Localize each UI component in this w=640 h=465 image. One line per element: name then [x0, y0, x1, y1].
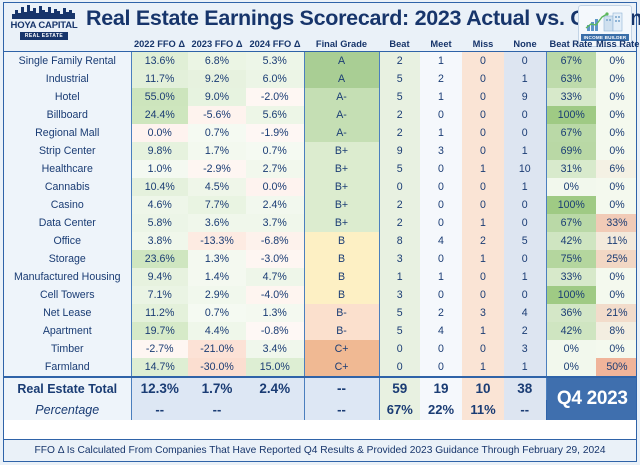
- cell-miss-rate: 0%: [596, 178, 637, 196]
- cell-none: 1: [504, 70, 546, 88]
- cell-ffo2024: 2.4%: [246, 196, 304, 214]
- cell-none: 0: [504, 124, 546, 142]
- cell-total-ffo2022: 12.3%: [131, 377, 188, 400]
- cell-meet: 1: [420, 124, 462, 142]
- cell-meet: 1: [420, 52, 462, 70]
- cell-none: 0: [504, 52, 546, 70]
- cell-grade: B+: [304, 160, 379, 178]
- table-row[interactable]: Storage23.6%1.3%-3.0%B301075%25%: [4, 250, 637, 268]
- table-row[interactable]: Single Family Rental13.6%6.8%5.3%A210067…: [4, 52, 637, 70]
- table-row[interactable]: Farmland14.7%-30.0%15.0%C+00110%50%: [4, 358, 637, 377]
- cell-ffo2022: 7.1%: [131, 286, 188, 304]
- cell-meet: 0: [420, 214, 462, 232]
- cell-sector: Cell Towers: [4, 286, 131, 304]
- column-header-missrate: Miss Rate: [596, 39, 638, 49]
- cell-sector: Manufactured Housing: [4, 268, 131, 286]
- cell-miss: 1: [462, 250, 504, 268]
- cell-total-ffo2023: 1.7%: [188, 377, 246, 400]
- cell-pct-ffo2024: [246, 400, 304, 420]
- cell-beat-rate: 75%: [546, 250, 596, 268]
- cell-ffo2023: 7.7%: [188, 196, 246, 214]
- cell-ffo2022: 23.6%: [131, 250, 188, 268]
- cell-beat-rate: 0%: [546, 178, 596, 196]
- cell-beat: 2: [379, 214, 420, 232]
- cell-meet: 0: [420, 178, 462, 196]
- scorecard-root: HOYA CAPITAL REAL ESTATE Real Estate Ear…: [0, 0, 640, 465]
- cell-beat: 3: [379, 286, 420, 304]
- cell-none: 3: [504, 340, 546, 358]
- cell-miss: 1: [462, 160, 504, 178]
- cell-beat-rate: 63%: [546, 70, 596, 88]
- cell-beat: 2: [379, 196, 420, 214]
- cell-none: 10: [504, 160, 546, 178]
- cell-none: 1: [504, 358, 546, 377]
- cell-ffo2023: 1.4%: [188, 268, 246, 286]
- cell-beat-rate: 100%: [546, 196, 596, 214]
- cell-ffo2024: 4.7%: [246, 268, 304, 286]
- table-row[interactable]: Data Center5.8%3.6%3.7%B+201067%33%: [4, 214, 637, 232]
- cell-sector: Apartment: [4, 322, 131, 340]
- cell-none: 0: [504, 214, 546, 232]
- column-headers: 2022 FFO Δ2023 FFO Δ2024 FFO ΔFinal Grad…: [4, 34, 636, 49]
- cell-miss-rate: 33%: [596, 214, 637, 232]
- cell-grade: B-: [304, 322, 379, 340]
- cell-ffo2022: 1.0%: [131, 160, 188, 178]
- cell-sector: Office: [4, 232, 131, 250]
- cell-ffo2023: -5.6%: [188, 106, 246, 124]
- cell-beat-rate: 67%: [546, 124, 596, 142]
- column-header-miss: Miss: [462, 39, 504, 49]
- cell-miss-rate: 11%: [596, 232, 637, 250]
- cell-miss-rate: 0%: [596, 340, 637, 358]
- cell-grade: A: [304, 52, 379, 70]
- cell-ffo2022: 11.7%: [131, 70, 188, 88]
- cell-meet: 1: [420, 88, 462, 106]
- table-row[interactable]: Hotel55.0%9.0%-2.0%A-510933%0%: [4, 88, 637, 106]
- cell-ffo2023: 0.7%: [188, 124, 246, 142]
- cell-beat-rate: 67%: [546, 214, 596, 232]
- table-row[interactable]: Manufactured Housing9.4%1.4%4.7%B110133%…: [4, 268, 637, 286]
- cell-miss-rate: 0%: [596, 286, 637, 304]
- cell-ffo2024: -0.8%: [246, 322, 304, 340]
- cell-grade: B+: [304, 214, 379, 232]
- cell-ffo2024: -3.0%: [246, 250, 304, 268]
- cell-pct-beat: 67%: [379, 400, 420, 420]
- cell-miss-rate: 0%: [596, 52, 637, 70]
- cell-grade: A-: [304, 88, 379, 106]
- scorecard-table-body: Single Family Rental13.6%6.8%5.3%A210067…: [4, 52, 637, 420]
- cell-ffo2024: 0.0%: [246, 178, 304, 196]
- cell-meet: 0: [420, 358, 462, 377]
- table-row[interactable]: Cannabis10.4%4.5%0.0%B+00010%0%: [4, 178, 637, 196]
- cell-ffo2024: -6.8%: [246, 232, 304, 250]
- cell-total-meet: 19: [420, 377, 462, 400]
- cell-ffo2022: 11.2%: [131, 304, 188, 322]
- column-header-beat: Beat: [379, 39, 420, 49]
- cell-grade: B: [304, 250, 379, 268]
- column-header-meet: Meet: [420, 39, 462, 49]
- cell-meet: 2: [420, 304, 462, 322]
- cell-ffo2024: 1.3%: [246, 304, 304, 322]
- cell-pct-ffo2023: --: [188, 400, 246, 420]
- cell-ffo2023: 1.7%: [188, 142, 246, 160]
- cell-ffo2023: -2.9%: [188, 160, 246, 178]
- cell-ffo2024: -4.0%: [246, 286, 304, 304]
- table-row[interactable]: Timber-2.7%-21.0%3.4%C+00030%0%: [4, 340, 637, 358]
- cell-miss: 1: [462, 214, 504, 232]
- cell-sector: Net Lease: [4, 304, 131, 322]
- cell-ffo2023: 2.9%: [188, 286, 246, 304]
- cell-ffo2024: 0.7%: [246, 142, 304, 160]
- cell-grade: C+: [304, 358, 379, 377]
- cell-total-miss: 10: [462, 377, 504, 400]
- cell-none: 4: [504, 304, 546, 322]
- scorecard-table: Single Family Rental13.6%6.8%5.3%A210067…: [4, 52, 637, 420]
- cell-ffo2022: 19.7%: [131, 322, 188, 340]
- cell-miss-rate: 0%: [596, 88, 637, 106]
- cell-meet: 0: [420, 250, 462, 268]
- cell-grade: B-: [304, 304, 379, 322]
- cell-meet: 0: [420, 340, 462, 358]
- cell-beat-rate: 69%: [546, 142, 596, 160]
- cell-beat-rate: 33%: [546, 268, 596, 286]
- cell-none: 1: [504, 142, 546, 160]
- cell-ffo2023: 6.8%: [188, 52, 246, 70]
- cell-grade: B: [304, 268, 379, 286]
- cell-ffo2024: 3.7%: [246, 214, 304, 232]
- cell-miss: 2: [462, 232, 504, 250]
- cell-ffo2022: 14.7%: [131, 358, 188, 377]
- cell-miss-rate: 21%: [596, 304, 637, 322]
- cell-ffo2023: 1.3%: [188, 250, 246, 268]
- cell-miss: 0: [462, 88, 504, 106]
- cell-meet: 0: [420, 106, 462, 124]
- cell-none: 1: [504, 268, 546, 286]
- header: HOYA CAPITAL REAL ESTATE Real Estate Ear…: [3, 2, 637, 52]
- cell-beat-rate: 31%: [546, 160, 596, 178]
- cell-miss: 1: [462, 322, 504, 340]
- cell-ffo2023: -13.3%: [188, 232, 246, 250]
- cell-miss: 0: [462, 106, 504, 124]
- cell-miss: 0: [462, 142, 504, 160]
- cell-total-label: Real Estate Total: [4, 377, 131, 400]
- cell-total-grade: --: [304, 377, 379, 400]
- summary-percentage-row: Percentage------67%22%11%--: [4, 400, 637, 420]
- cell-ffo2022: -2.7%: [131, 340, 188, 358]
- cell-sector: Casino: [4, 196, 131, 214]
- cell-grade: A-: [304, 124, 379, 142]
- cell-grade: A: [304, 70, 379, 88]
- cell-ffo2022: 9.8%: [131, 142, 188, 160]
- column-header-none: None: [504, 39, 546, 49]
- column-header-grade: Final Grade: [304, 39, 379, 49]
- summary-total-row: Real Estate Total12.3%1.7%2.4%--59191038…: [4, 377, 637, 400]
- cell-ffo2023: -30.0%: [188, 358, 246, 377]
- cell-ffo2022: 9.4%: [131, 268, 188, 286]
- cell-miss: 0: [462, 124, 504, 142]
- cell-beat-rate: 33%: [546, 88, 596, 106]
- footer-note: FFO Δ Is Calculated From Companies That …: [35, 445, 606, 456]
- cell-pct-label: Percentage: [4, 400, 131, 420]
- cell-meet: 2: [420, 70, 462, 88]
- cell-pct-meet: 22%: [420, 400, 462, 420]
- cell-ffo2022: 3.8%: [131, 232, 188, 250]
- cell-grade: B: [304, 232, 379, 250]
- table-row[interactable]: Strip Center9.8%1.7%0.7%B+930169%0%: [4, 142, 637, 160]
- cell-miss: 0: [462, 286, 504, 304]
- cell-grade: C+: [304, 340, 379, 358]
- cell-ffo2024: -2.0%: [246, 88, 304, 106]
- cell-ffo2023: 9.0%: [188, 88, 246, 106]
- cell-none: 5: [504, 232, 546, 250]
- cell-miss: 0: [462, 70, 504, 88]
- column-header-ffo2024: 2024 FFO Δ: [246, 39, 304, 49]
- cell-beat: 1: [379, 268, 420, 286]
- cell-beat: 0: [379, 178, 420, 196]
- cell-beat: 3: [379, 250, 420, 268]
- table-row[interactable]: Billboard24.4%-5.6%5.6%A-2000100%0%: [4, 106, 637, 124]
- cell-meet: 4: [420, 322, 462, 340]
- table-row[interactable]: Industrial11.7%9.2%6.0%A520163%0%: [4, 70, 637, 88]
- cell-ffo2023: 3.6%: [188, 214, 246, 232]
- cell-sector: Billboard: [4, 106, 131, 124]
- cell-ffo2022: 13.6%: [131, 52, 188, 70]
- cell-sector: Healthcare: [4, 160, 131, 178]
- cell-none: 0: [504, 106, 546, 124]
- cell-meet: 4: [420, 232, 462, 250]
- cell-ffo2022: 55.0%: [131, 88, 188, 106]
- cell-beat: 0: [379, 358, 420, 377]
- cell-ffo2022: 0.0%: [131, 124, 188, 142]
- scorecard-table-wrap: Single Family Rental13.6%6.8%5.3%A210067…: [3, 52, 637, 440]
- cell-miss: 3: [462, 304, 504, 322]
- cell-miss-rate: 0%: [596, 142, 637, 160]
- cell-sector: Single Family Rental: [4, 52, 131, 70]
- cell-miss-rate: 0%: [596, 196, 637, 214]
- cell-miss-rate: 8%: [596, 322, 637, 340]
- cell-total-ffo2024: 2.4%: [246, 377, 304, 400]
- cell-grade: B+: [304, 142, 379, 160]
- table-row[interactable]: Casino4.6%7.7%2.4%B+2000100%0%: [4, 196, 637, 214]
- cell-beat: 5: [379, 70, 420, 88]
- cell-ffo2022: 24.4%: [131, 106, 188, 124]
- cell-beat-rate: 67%: [546, 52, 596, 70]
- cell-beat-rate: 0%: [546, 358, 596, 377]
- column-header-ffo2022: 2022 FFO Δ: [131, 39, 188, 49]
- table-row[interactable]: Healthcare1.0%-2.9%2.7%B+5011031%6%: [4, 160, 637, 178]
- chart-building-icon: [583, 11, 627, 33]
- table-row[interactable]: Regional Mall0.0%0.7%-1.9%A-210067%0%: [4, 124, 637, 142]
- cell-ffo2023: 4.4%: [188, 322, 246, 340]
- cell-sector: Hotel: [4, 88, 131, 106]
- cell-beat-rate: 100%: [546, 286, 596, 304]
- cell-ffo2024: 5.6%: [246, 106, 304, 124]
- cell-pct-ffo2022: --: [131, 400, 188, 420]
- column-header-beatrate: Beat Rate: [546, 39, 596, 49]
- cell-miss-rate: 25%: [596, 250, 637, 268]
- cell-ffo2023: 9.2%: [188, 70, 246, 88]
- cell-meet: 3: [420, 142, 462, 160]
- cell-ffo2024: 5.3%: [246, 52, 304, 70]
- cell-beat: 2: [379, 124, 420, 142]
- cell-meet: 0: [420, 286, 462, 304]
- cell-miss: 0: [462, 52, 504, 70]
- cell-sector: Farmland: [4, 358, 131, 377]
- cell-miss: 0: [462, 268, 504, 286]
- cell-sector: Storage: [4, 250, 131, 268]
- column-header-ffo2023: 2023 FFO Δ: [188, 39, 246, 49]
- cell-beat: 5: [379, 88, 420, 106]
- table-row[interactable]: Net Lease11.2%0.7%1.3%B-523436%21%: [4, 304, 637, 322]
- table-row[interactable]: Apartment19.7%4.4%-0.8%B-541242%8%: [4, 322, 637, 340]
- cell-sector: Data Center: [4, 214, 131, 232]
- cell-none: 9: [504, 88, 546, 106]
- cell-meet: 0: [420, 196, 462, 214]
- cell-beat: 9: [379, 142, 420, 160]
- cell-miss: 1: [462, 358, 504, 377]
- cell-miss: 0: [462, 340, 504, 358]
- cell-sector: Industrial: [4, 70, 131, 88]
- cell-beat: 2: [379, 52, 420, 70]
- skyline-icon: [12, 5, 76, 19]
- quarter-badge: Q4 2023: [546, 377, 637, 420]
- cell-beat-rate: 42%: [546, 322, 596, 340]
- cell-miss-rate: 0%: [596, 268, 637, 286]
- cell-none: 0: [504, 250, 546, 268]
- table-row[interactable]: Cell Towers7.1%2.9%-4.0%B3000100%0%: [4, 286, 637, 304]
- cell-ffo2022: 4.6%: [131, 196, 188, 214]
- cell-pct-none: --: [504, 400, 546, 420]
- cell-ffo2024: -1.9%: [246, 124, 304, 142]
- cell-ffo2024: 2.7%: [246, 160, 304, 178]
- cell-ffo2022: 5.8%: [131, 214, 188, 232]
- cell-pct-miss: 11%: [462, 400, 504, 420]
- cell-grade: A-: [304, 106, 379, 124]
- cell-beat: 5: [379, 304, 420, 322]
- footer-note-bar: FFO Δ Is Calculated From Companies That …: [3, 440, 637, 462]
- cell-grade: B+: [304, 196, 379, 214]
- logo-left-name: HOYA CAPITAL: [11, 20, 78, 31]
- cell-beat-rate: 100%: [546, 106, 596, 124]
- cell-miss-rate: 50%: [596, 358, 637, 377]
- cell-beat-rate: 42%: [546, 232, 596, 250]
- cell-ffo2023: 0.7%: [188, 304, 246, 322]
- cell-miss-rate: 0%: [596, 70, 637, 88]
- cell-sector: Strip Center: [4, 142, 131, 160]
- cell-meet: 1: [420, 268, 462, 286]
- cell-beat: 0: [379, 340, 420, 358]
- cell-beat: 8: [379, 232, 420, 250]
- cell-ffo2023: 4.5%: [188, 178, 246, 196]
- cell-ffo2023: -21.0%: [188, 340, 246, 358]
- cell-total-none: 38: [504, 377, 546, 400]
- cell-ffo2022: 10.4%: [131, 178, 188, 196]
- cell-beat-rate: 0%: [546, 340, 596, 358]
- cell-miss: 0: [462, 196, 504, 214]
- cell-grade: B+: [304, 178, 379, 196]
- cell-beat: 5: [379, 160, 420, 178]
- cell-total-beat: 59: [379, 377, 420, 400]
- cell-beat: 5: [379, 322, 420, 340]
- cell-none: 0: [504, 196, 546, 214]
- cell-grade: B: [304, 286, 379, 304]
- cell-none: 2: [504, 322, 546, 340]
- table-row[interactable]: Office3.8%-13.3%-6.8%B842542%11%: [4, 232, 637, 250]
- cell-sector: Cannabis: [4, 178, 131, 196]
- cell-beat-rate: 36%: [546, 304, 596, 322]
- cell-miss-rate: 0%: [596, 124, 637, 142]
- cell-miss: 0: [462, 178, 504, 196]
- cell-ffo2024: 3.4%: [246, 340, 304, 358]
- cell-none: 1: [504, 178, 546, 196]
- cell-meet: 0: [420, 160, 462, 178]
- page-title: Real Estate Earnings Scorecard: 2023 Act…: [86, 6, 572, 31]
- cell-miss-rate: 0%: [596, 106, 637, 124]
- cell-none: 0: [504, 286, 546, 304]
- cell-sector: Timber: [4, 340, 131, 358]
- cell-sector: Regional Mall: [4, 124, 131, 142]
- cell-pct-grade: --: [304, 400, 379, 420]
- cell-ffo2024: 6.0%: [246, 70, 304, 88]
- cell-miss-rate: 6%: [596, 160, 637, 178]
- cell-beat: 2: [379, 106, 420, 124]
- cell-ffo2024: 15.0%: [246, 358, 304, 377]
